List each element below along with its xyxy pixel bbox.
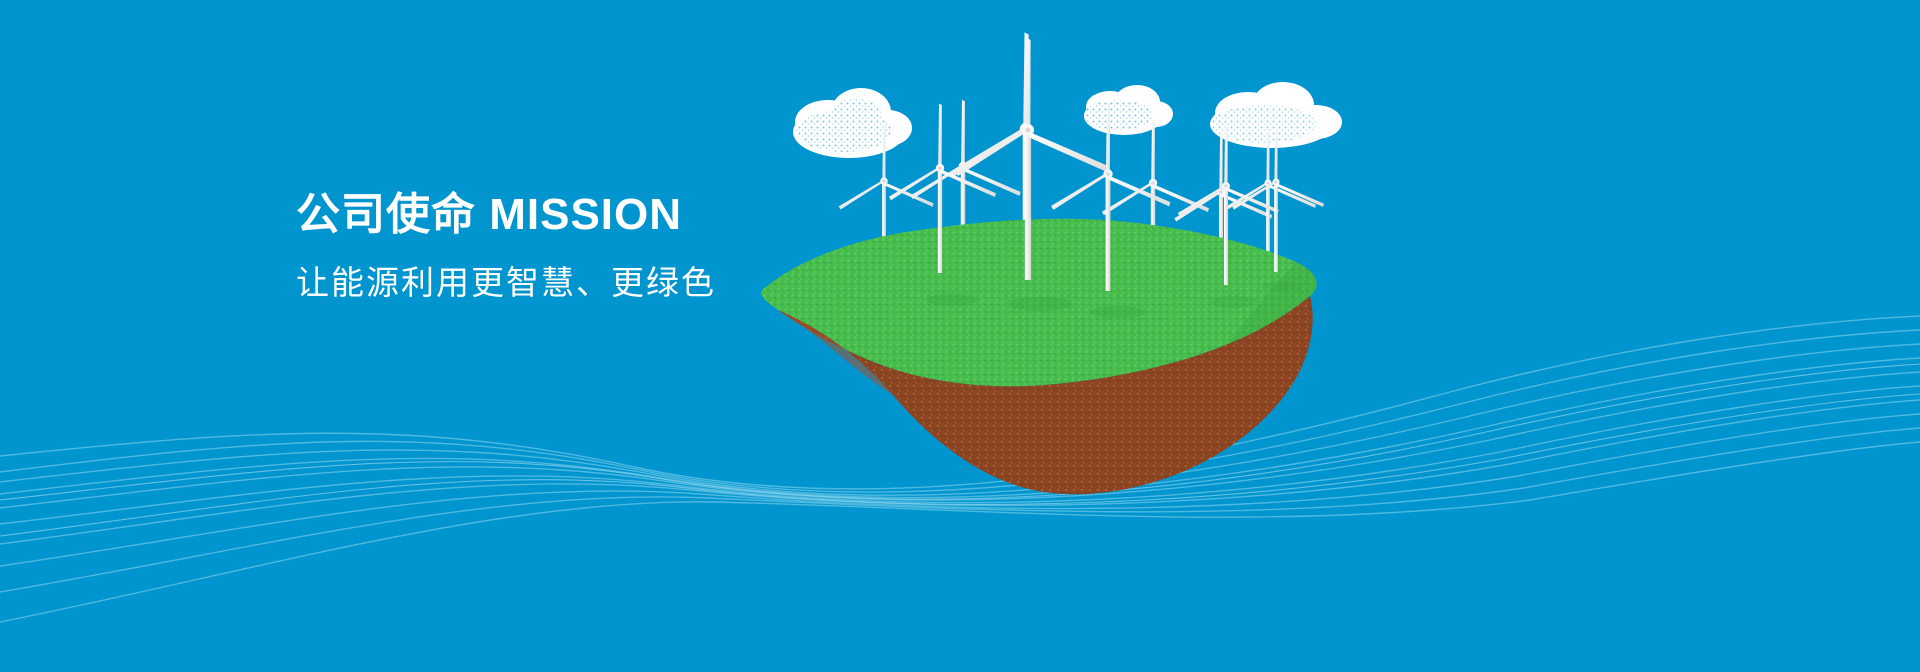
- page-title: 公司使命 MISSION: [296, 186, 1056, 244]
- cloud-middle: [1084, 85, 1173, 135]
- page-subtitle: 让能源利用更智慧、更绿色: [296, 260, 1056, 306]
- wind-farm-illustration: [0, 0, 1920, 672]
- mission-text-block: 公司使命 MISSION 让能源利用更智慧、更绿色: [296, 186, 1056, 306]
- mission-banner: 公司使命 MISSION 让能源利用更智慧、更绿色: [0, 0, 1920, 672]
- cloud-left: [793, 88, 912, 158]
